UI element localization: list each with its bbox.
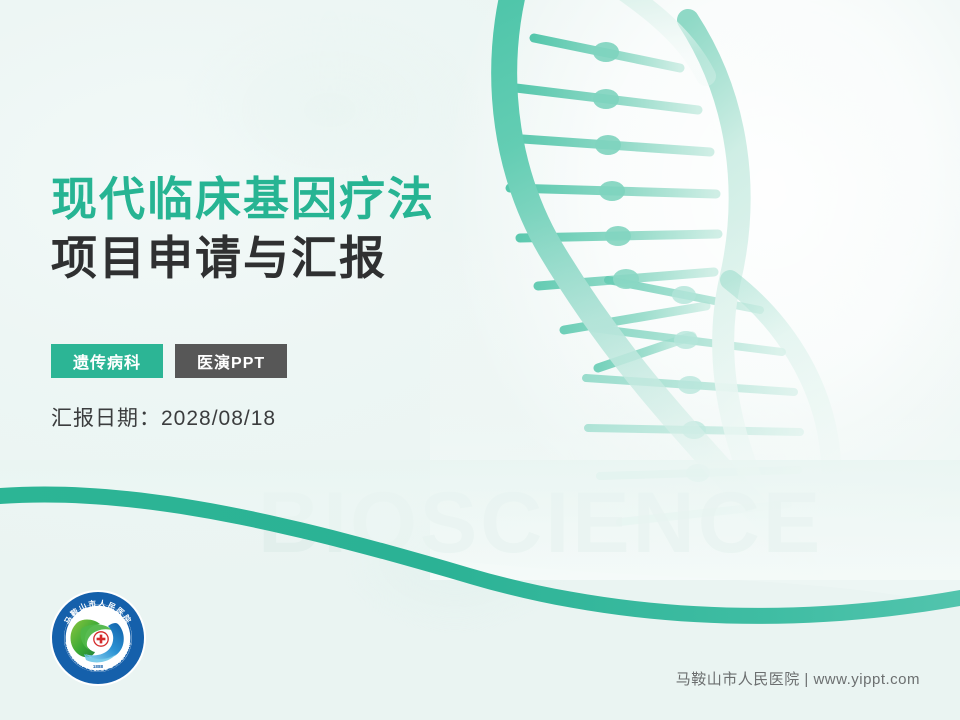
title-line-secondary: 项目申请与汇报 — [51, 229, 571, 288]
presentation-title-slide: BIOSCIENCE 现代临床基因疗法 项目申请与汇报 遗传病科 医演PPT 汇… — [0, 0, 960, 720]
page-title: 现代临床基因疗法 项目申请与汇报 — [51, 170, 571, 288]
tag-row: 遗传病科 医演PPT — [51, 344, 287, 378]
tag-brand[interactable]: 医演PPT — [175, 344, 287, 378]
report-date: 汇报日期：2028/08/18 — [51, 402, 276, 432]
title-line-primary: 现代临床基因疗法 — [51, 170, 571, 229]
footer-text: 马鞍山市人民医院 | www.yippt.com — [676, 668, 920, 689]
tag-department[interactable]: 遗传病科 — [51, 344, 163, 378]
svg-text:1888: 1888 — [93, 664, 104, 669]
hospital-logo: 马鞍山市人民医院 MAANSHAN PEOPLE'S HOSPITAL 1888 — [48, 588, 148, 688]
